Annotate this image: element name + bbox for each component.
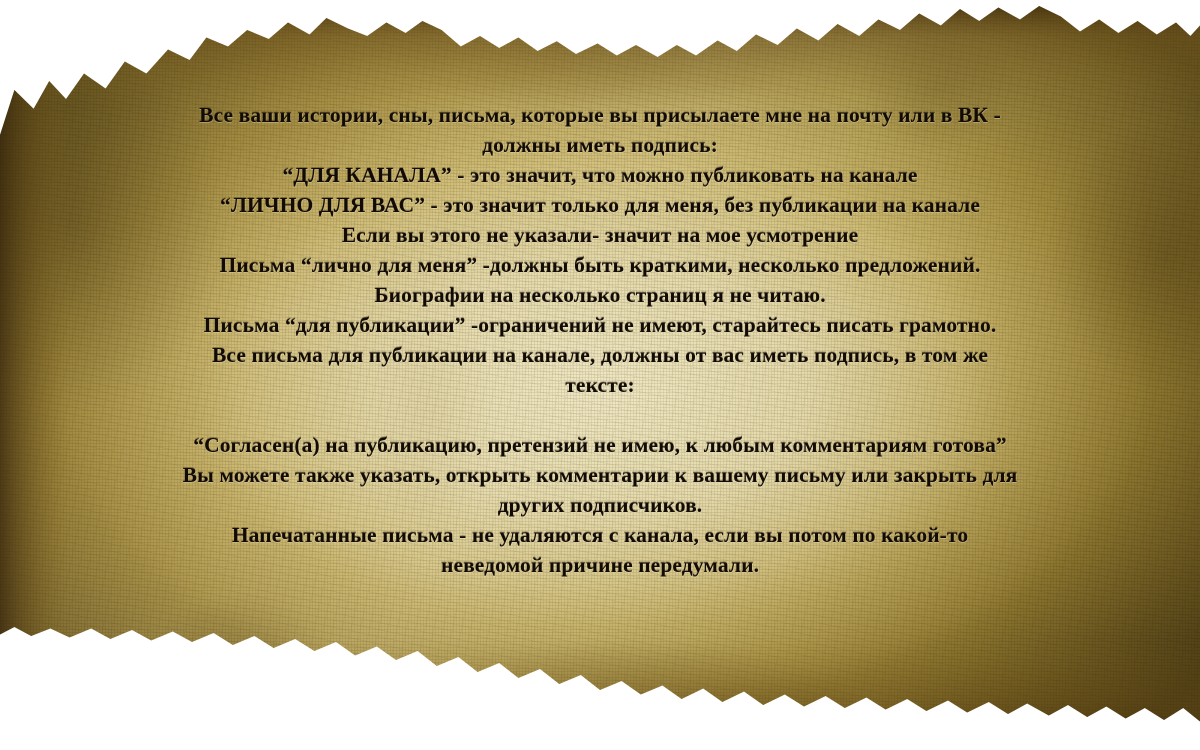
note-line-1: Все ваши истории, сны, письма, которые в… <box>18 100 1182 130</box>
note-line-6: Письма “лично для меня” -должны быть кра… <box>18 250 1182 280</box>
note-line-3: “ДЛЯ КАНАЛА” - это значит, что можно пуб… <box>18 160 1182 190</box>
note-line-8: Письма “для публикации” -ограничений не … <box>18 310 1182 340</box>
note-line-7: Биографии на несколько страниц я не чита… <box>18 280 1182 310</box>
note-line-2: должны иметь подпись: <box>18 130 1182 160</box>
note-line-4: “ЛИЧНО ДЛЯ ВАС” - это значит только для … <box>18 190 1182 220</box>
note-line-9: Все письма для публикации на канале, дол… <box>18 340 1182 370</box>
note-text-block: Все ваши истории, сны, письма, которые в… <box>0 0 1200 750</box>
note-line-13: других подписчиков. <box>18 490 1182 520</box>
note-line-15: неведомой причине передумали. <box>18 550 1182 580</box>
note-line-11: “Согласен(а) на публикацию, претензий не… <box>18 430 1182 460</box>
note-line-5: Если вы этого не указали- значит на мое … <box>18 220 1182 250</box>
parchment-note-canvas: Все ваши истории, сны, письма, которые в… <box>0 0 1200 750</box>
note-line-12: Вы можете также указать, открыть коммент… <box>18 460 1182 490</box>
note-line-10: тексте: <box>18 370 1182 400</box>
note-line-14: Напечатанные письма - не удаляются с кан… <box>18 520 1182 550</box>
